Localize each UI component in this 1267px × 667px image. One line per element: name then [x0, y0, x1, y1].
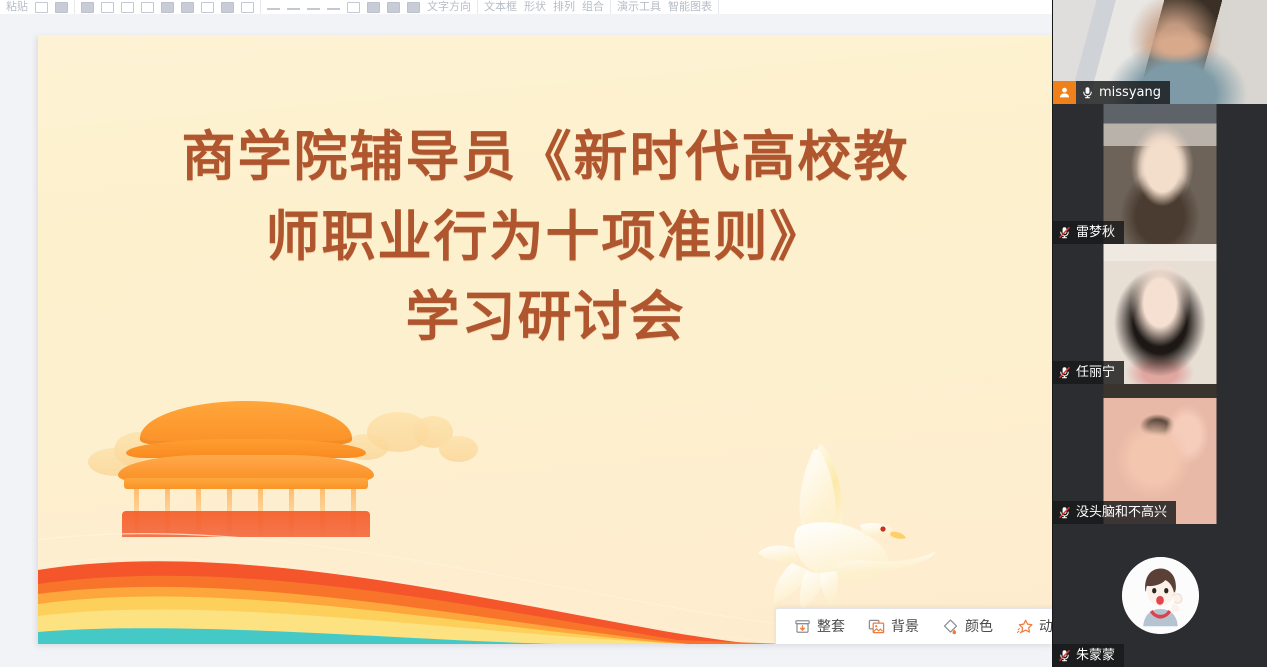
animation-star-icon	[1015, 617, 1034, 636]
toolbar-item-text-direction[interactable]: 文字方向	[427, 2, 471, 13]
align-left-icon[interactable]	[267, 8, 280, 10]
participant-name: 朱蒙蒙	[1076, 649, 1115, 662]
presentation-meeting-window: 粘贴 文字方向 文本框 形状	[0, 0, 1267, 667]
toolbar-group-insert[interactable]: 文本框 形状 排列 组合	[478, 0, 611, 14]
peace-dove-icon	[736, 439, 941, 614]
slide-tool-animation-label: 动画	[1039, 620, 1053, 634]
slide-content: 商学院辅导员《新时代高校教 师职业行为十项准则》 学习研讨会	[38, 35, 1053, 644]
toolbar-item-smart-chart[interactable]: 智能图表	[668, 2, 712, 13]
toolbar-group-paragraph[interactable]: 文字方向	[261, 0, 478, 14]
participant-tile-meitounao[interactable]: 没头脑和不高兴	[1053, 384, 1267, 524]
strikethrough-icon[interactable]	[141, 2, 154, 13]
color-palette-icon	[941, 617, 960, 636]
toolbar-item-arrange[interactable]: 排列	[553, 2, 575, 13]
slide-tool-background-label: 背景	[891, 620, 919, 634]
ribbon-toolbar[interactable]: 粘贴 文字方向 文本框 形状	[0, 0, 1053, 15]
toolbar-group-tools[interactable]: 演示工具 智能图表	[611, 0, 719, 14]
slide-artwork	[38, 354, 1053, 644]
participant-video-rail[interactable]: missyang 雷梦秋 任丽宁	[1052, 0, 1267, 667]
template-download-icon	[793, 617, 812, 636]
participant-namebar: 没头脑和不高兴	[1053, 501, 1176, 524]
participant-tile-leimengqiu[interactable]: 雷梦秋	[1053, 104, 1267, 244]
mic-on-icon	[1076, 81, 1099, 104]
toolbar-item-group[interactable]: 组合	[582, 2, 604, 13]
bullet-list-icon[interactable]	[347, 2, 360, 13]
mic-muted-icon	[1053, 221, 1076, 244]
cartoon-girl-avatar	[1122, 557, 1199, 634]
host-person-icon	[1053, 81, 1076, 104]
participant-name: 没头脑和不高兴	[1076, 506, 1167, 519]
slide-tool-template[interactable]: 整套	[782, 612, 856, 642]
slide-design-toolbar[interactable]: 整套 背景 颜色	[775, 608, 1053, 644]
background-image-icon	[867, 617, 886, 636]
format-painter-icon[interactable]	[55, 2, 68, 13]
slide-title[interactable]: 商学院辅导员《新时代高校教 师职业行为十项准则》 学习研讨会	[38, 117, 1053, 357]
toolbar-group-font[interactable]	[75, 0, 261, 14]
participant-tile-zhumengmeng[interactable]: 朱蒙蒙	[1053, 524, 1267, 667]
underline-icon[interactable]	[121, 2, 134, 13]
participant-tile-missyang[interactable]: missyang	[1053, 0, 1267, 104]
participant-namebar: 朱蒙蒙	[1053, 644, 1124, 667]
toolbar-item-shape[interactable]: 形状	[524, 2, 546, 13]
align-justify-icon[interactable]	[327, 8, 340, 10]
font-color-icon[interactable]	[181, 2, 194, 13]
participant-name: 雷梦秋	[1076, 226, 1115, 239]
mic-muted-icon	[1053, 644, 1076, 667]
align-center-icon[interactable]	[287, 8, 300, 10]
indent-increase-icon[interactable]	[387, 2, 400, 13]
participant-name: 任丽宁	[1076, 366, 1115, 379]
bold-icon[interactable]	[81, 2, 94, 13]
italic-icon[interactable]	[101, 2, 114, 13]
indent-decrease-icon[interactable]	[367, 2, 380, 13]
clear-format-icon[interactable]	[241, 2, 254, 13]
mic-muted-icon	[1053, 501, 1076, 524]
participant-namebar: missyang	[1053, 81, 1170, 104]
participant-name: missyang	[1099, 86, 1161, 99]
toolbar-item-paste[interactable]: 粘贴	[6, 2, 28, 13]
slide-tool-color[interactable]: 颜色	[930, 612, 1004, 642]
participant-tile-renlining[interactable]: 任丽宁	[1053, 244, 1267, 384]
text-highlight-icon[interactable]	[221, 2, 234, 13]
align-right-icon[interactable]	[307, 8, 320, 10]
slide-tool-color-label: 颜色	[965, 620, 993, 634]
toolbar-group-clipboard[interactable]: 粘贴	[0, 0, 75, 14]
mic-muted-icon	[1053, 361, 1076, 384]
slide-tool-template-label: 整套	[817, 620, 845, 634]
participant-namebar: 任丽宁	[1053, 361, 1124, 384]
slide-stage: 商学院辅导员《新时代高校教 师职业行为十项准则》 学习研讨会	[0, 14, 1053, 667]
toolbar-item-textbox[interactable]: 文本框	[484, 2, 517, 13]
slide-tool-background[interactable]: 背景	[856, 612, 930, 642]
slide-canvas[interactable]: 商学院辅导员《新时代高校教 师职业行为十项准则》 学习研讨会	[38, 35, 1053, 644]
slide-tool-animation[interactable]: 动画	[1004, 612, 1053, 642]
font-size-icon[interactable]	[161, 2, 174, 13]
toolbar-item-presentation-tools[interactable]: 演示工具	[617, 2, 661, 13]
participant-namebar: 雷梦秋	[1053, 221, 1124, 244]
text-shadow-icon[interactable]	[201, 2, 214, 13]
line-spacing-icon[interactable]	[407, 2, 420, 13]
copy-icon[interactable]	[35, 2, 48, 13]
